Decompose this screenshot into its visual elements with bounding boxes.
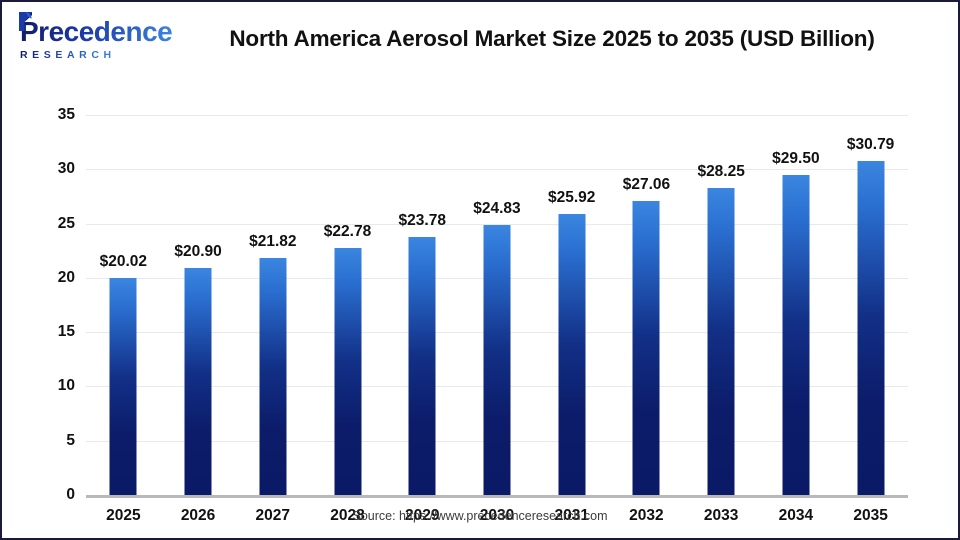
- bar-slot: $20.02: [86, 115, 161, 495]
- page-title: North America Aerosol Market Size 2025 t…: [162, 26, 958, 52]
- y-axis-tick-label: 10: [58, 377, 75, 395]
- y-axis-tick-label: 35: [58, 106, 75, 124]
- bar-value-label-2031: $25.92: [548, 189, 595, 207]
- bar-2030[interactable]: [483, 225, 510, 495]
- bar-2027[interactable]: [259, 258, 286, 495]
- bar-2029[interactable]: [409, 237, 436, 495]
- logo-wordmark-container: Precedence: [16, 18, 172, 46]
- bar-2033[interactable]: [708, 188, 735, 495]
- bar-slot: $24.83: [460, 115, 535, 495]
- precedence-leaf-mark-icon: [18, 11, 35, 32]
- bar-2034[interactable]: [782, 175, 809, 495]
- bar-value-label-2029: $23.78: [399, 212, 446, 230]
- bar-value-label-2033: $28.25: [697, 163, 744, 181]
- chart-container: 05101520253035 $20.02$20.90$21.82$22.78$…: [2, 76, 958, 538]
- bar-slot: $25.92: [534, 115, 609, 495]
- logo-wordmark-text: Precedence: [20, 16, 172, 47]
- bar-slot: $22.78: [310, 115, 385, 495]
- bar-2032[interactable]: [633, 201, 660, 495]
- page-header: Precedence RESEARCH North America Aeroso…: [2, 2, 958, 79]
- bar-value-label-2026: $20.90: [174, 243, 221, 261]
- bar-value-label-2032: $27.06: [623, 176, 670, 194]
- bar-value-label-2028: $22.78: [324, 223, 371, 241]
- y-axis-tick-label: 30: [58, 160, 75, 178]
- source-caption: Source: https://www.precedenceresearch.c…: [2, 509, 958, 523]
- y-axis-tick-label: 15: [58, 323, 75, 341]
- y-axis-tick-label: 20: [58, 269, 75, 287]
- bar-slot: $28.25: [684, 115, 759, 495]
- bar-2031[interactable]: [558, 214, 585, 495]
- bar-value-label-2027: $21.82: [249, 233, 296, 251]
- logo-subtitle-text: RESEARCH: [16, 49, 116, 61]
- bar-slot: $30.79: [833, 115, 908, 495]
- bar-2035[interactable]: [857, 161, 884, 495]
- bar-slot: $21.82: [235, 115, 310, 495]
- bar-value-label-2034: $29.50: [772, 150, 819, 168]
- bar-slot: $27.06: [609, 115, 684, 495]
- y-axis-tick-label: 25: [58, 215, 75, 233]
- bar-series: $20.02$20.90$21.82$22.78$23.78$24.83$25.…: [86, 115, 908, 495]
- bar-slot: $29.50: [759, 115, 834, 495]
- y-axis-tick-label: 5: [66, 432, 75, 450]
- bar-value-label-2035: $30.79: [847, 136, 894, 154]
- x-axis-baseline: [86, 495, 908, 498]
- bar-value-label-2025: $20.02: [100, 253, 147, 271]
- bar-2025[interactable]: [110, 278, 137, 495]
- bar-value-label-2030: $24.83: [473, 200, 520, 218]
- precedence-research-logo: Precedence RESEARCH: [2, 18, 162, 61]
- bar-2026[interactable]: [185, 268, 212, 495]
- bar-2028[interactable]: [334, 248, 361, 495]
- y-axis-tick-label: 0: [66, 486, 75, 504]
- bar-slot: $23.78: [385, 115, 460, 495]
- chart-page: Precedence RESEARCH North America Aeroso…: [0, 0, 960, 540]
- bar-slot: $20.90: [161, 115, 236, 495]
- plot-area: 05101520253035 $20.02$20.90$21.82$22.78$…: [86, 115, 908, 533]
